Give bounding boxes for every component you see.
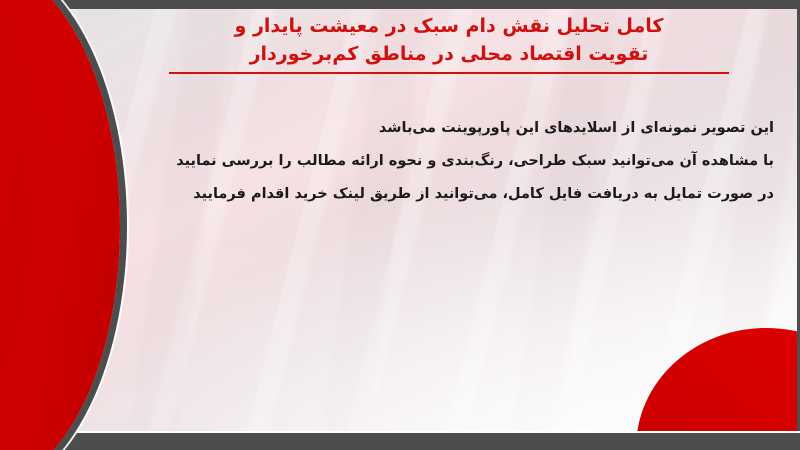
- slide-title: کامل تحلیل نقش دام سبک در معیشت پایدار و…: [120, 12, 778, 74]
- slide-body: این تصویر نمونه‌ای از اسلایدهای این پاور…: [120, 112, 774, 211]
- slide-title-line-1: کامل تحلیل نقش دام سبک در معیشت پایدار و: [120, 12, 778, 40]
- body-line-1: این تصویر نمونه‌ای از اسلایدهای این پاور…: [120, 112, 774, 145]
- body-line-3: در صورت تمایل به دریافت فایل کامل، می‌تو…: [120, 178, 774, 211]
- slide-title-line-2: تقویت اقتصاد محلی در مناطق کم‌برخوردار: [120, 40, 778, 68]
- body-line-2: با مشاهده آن می‌توانید سبک طراحی، رنگ‌بن…: [120, 145, 774, 178]
- presentation-slide: کامل تحلیل نقش دام سبک در معیشت پایدار و…: [0, 0, 800, 450]
- title-underline-rule: [169, 72, 729, 74]
